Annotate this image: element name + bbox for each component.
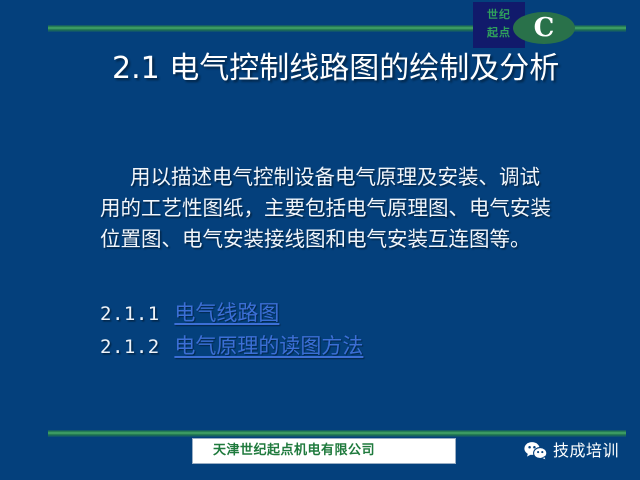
- footer-company-name: 天津世纪起点机电有限公司: [193, 439, 455, 463]
- sub-item-number: 2.1.1: [100, 303, 160, 325]
- footer-company-box: 天津世纪起点机电有限公司: [192, 438, 456, 464]
- list-item[interactable]: 2.1.1 电气线路图: [100, 297, 560, 330]
- body-text-block: 用以描述电气控制设备电气原理及安装、调试用的工艺性图纸，主要包括电气原理图、电气…: [100, 162, 556, 255]
- brand-logo: 世纪 起点 C: [473, 2, 591, 50]
- page-title: 2.1 电气控制线路图的绘制及分析: [112, 48, 628, 90]
- footer-brand-label: 技成培训: [553, 441, 619, 461]
- sub-item-number: 2.1.2: [100, 336, 160, 358]
- footer-brand: 技成培训: [524, 438, 619, 464]
- bottom-divider: [48, 430, 626, 437]
- list-item[interactable]: 2.1.2 电气原理的读图方法: [100, 330, 560, 363]
- sub-item-link-reading-method[interactable]: 电气原理的读图方法: [174, 334, 363, 358]
- logo-badge-c: C: [513, 12, 575, 44]
- slide: 世纪 起点 C 2.1 电气控制线路图的绘制及分析 用以描述电气控制设备电气原理…: [0, 0, 640, 480]
- wechat-icon: [524, 441, 548, 461]
- sub-item-link-electrical-circuit-diagram[interactable]: 电气线路图: [174, 301, 279, 325]
- sub-section-list: 2.1.1 电气线路图 2.1.2 电气原理的读图方法: [100, 297, 560, 363]
- body-paragraph: 用以描述电气控制设备电气原理及安装、调试用的工艺性图纸，主要包括电气原理图、电气…: [100, 162, 556, 255]
